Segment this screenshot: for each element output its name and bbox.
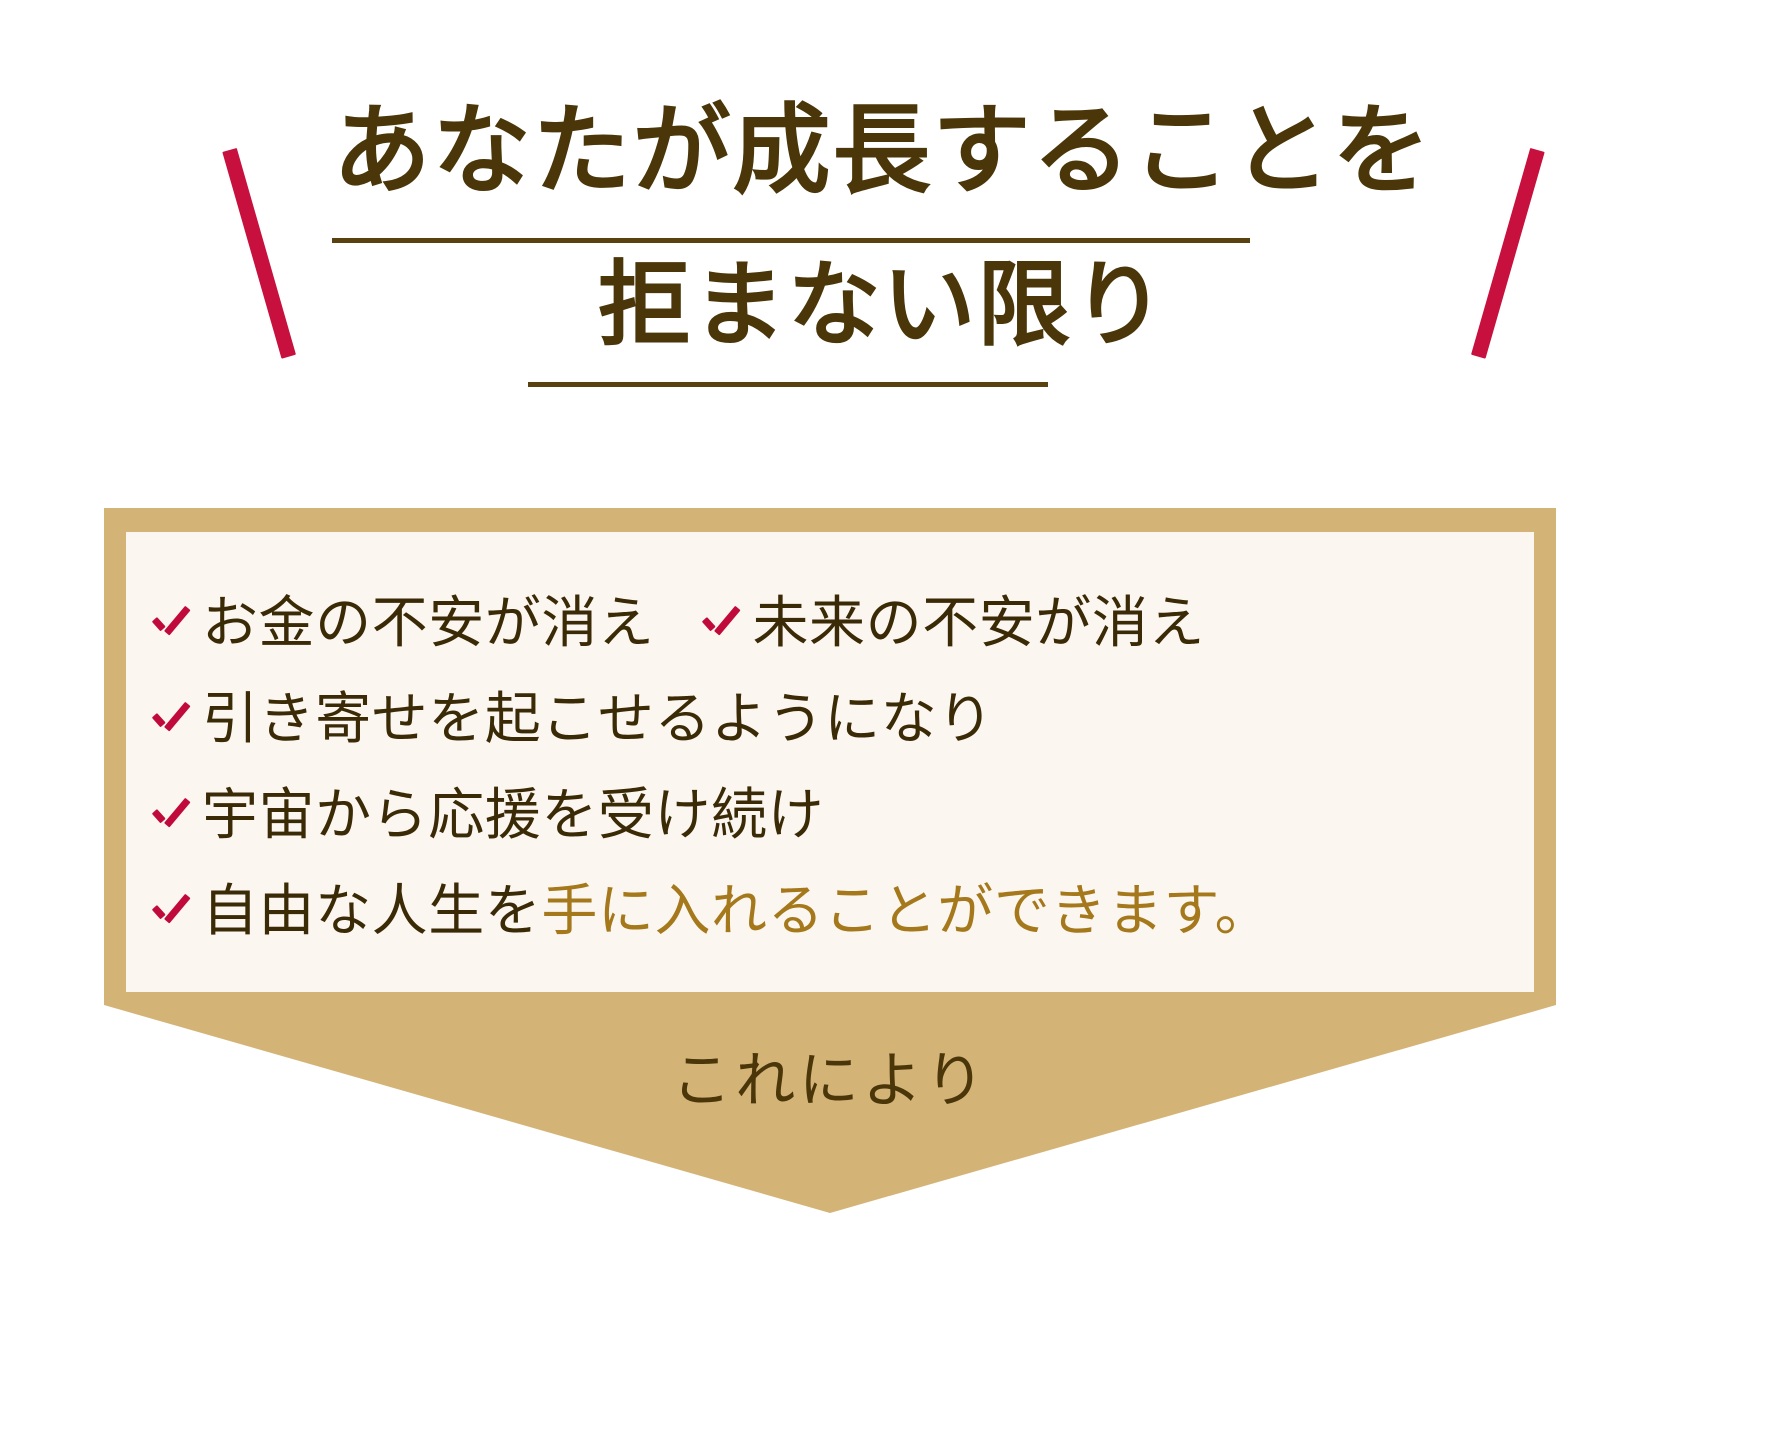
list-item-label: お金の不安が消え xyxy=(202,596,654,652)
list-item: 宇宙から応援を受け続け xyxy=(152,788,824,844)
check-icon xyxy=(152,601,194,647)
benefit-row: 宇宙から応援を受け続け xyxy=(152,768,1482,864)
list-item-label: 引き寄せを起こせるようになり xyxy=(202,692,994,748)
list-item: 引き寄せを起こせるようになり xyxy=(152,692,994,748)
list-item-label: 宇宙から応援を受け続け xyxy=(202,788,824,844)
heading-line-1: あなたが成長することを xyxy=(0,96,1765,206)
list-item-label-dark: 自由な人生を xyxy=(202,879,541,944)
check-icon xyxy=(152,889,194,935)
list-item: お金の不安が消え xyxy=(152,596,654,652)
heading-divider-top xyxy=(332,238,1250,243)
callout-banner-text: これにより xyxy=(104,1032,1556,1119)
benefit-row: 引き寄せを起こせるようになり xyxy=(152,672,1482,768)
heading-block: あなたが成長することを 拒まない限り xyxy=(0,0,1765,470)
list-item-label: 未来の不安が消え xyxy=(752,596,1204,652)
benefit-list: お金の不安が消え 未来の不安が消え 引き寄せを起こせるようになり 宇宙から応援を… xyxy=(152,576,1482,960)
check-icon xyxy=(702,601,744,647)
benefit-row: 自由な人生を手に入れることができます。 xyxy=(152,864,1482,960)
heading-line-2: 拒まない限り xyxy=(0,253,1765,357)
benefits-callout: お金の不安が消え 未来の不安が消え 引き寄せを起こせるようになり 宇宙から応援を… xyxy=(104,508,1556,1213)
list-item: 未来の不安が消え xyxy=(702,596,1204,652)
list-item-label-highlight: 手に入れることができます。 xyxy=(541,879,1271,944)
check-icon xyxy=(152,793,194,839)
heading-divider-bottom xyxy=(528,382,1048,387)
list-item-label: 自由な人生を手に入れることができます。 xyxy=(202,884,1271,940)
benefit-row: お金の不安が消え 未来の不安が消え xyxy=(152,576,1482,672)
check-icon xyxy=(152,697,194,743)
list-item: 自由な人生を手に入れることができます。 xyxy=(152,884,1271,940)
